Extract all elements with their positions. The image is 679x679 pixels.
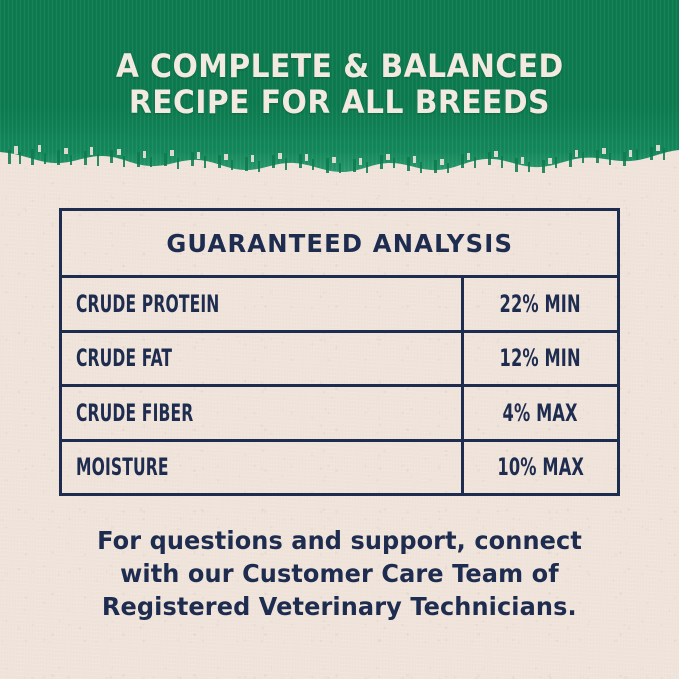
product-info-panel: A COMPLETE & BALANCED RECIPE FOR ALL BRE… [0,0,679,679]
nutrient-label: CRUDE FAT [76,344,172,372]
table-row: CRUDE PROTEIN 22% MIN [62,278,617,333]
table-row: CRUDE FIBER 4% MAX [62,387,617,442]
nutrient-label-cell: CRUDE FIBER [62,387,464,439]
nutrient-label: CRUDE FIBER [76,399,193,427]
nutrient-value: 22% MIN [500,290,581,318]
nutrient-label-cell: CRUDE PROTEIN [62,278,464,330]
nutrient-value-cell: 10% MAX [464,442,617,494]
nutrient-label: CRUDE PROTEIN [76,290,219,318]
support-note-line-3: Registered Veterinary Technicians. [102,590,577,623]
nutrient-value-cell: 12% MIN [464,333,617,385]
nutrient-value-cell: 4% MAX [464,387,617,439]
support-note-line-1: For questions and support, connect [97,524,582,557]
nutrient-label-cell: CRUDE FAT [62,333,464,385]
support-note-line-2: with our Customer Care Team of [120,557,559,590]
nutrient-value-cell: 22% MIN [464,278,617,330]
nutrient-value: 10% MAX [497,453,584,481]
nutrient-label-cell: MOISTURE [62,442,464,494]
customer-support-note: For questions and support, connect with … [0,524,679,623]
nutrient-label: MOISTURE [76,453,169,481]
nutrient-value: 4% MAX [503,399,578,427]
guaranteed-analysis-table: GUARANTEED ANALYSIS CRUDE PROTEIN 22% MI… [59,208,620,496]
nutrient-value: 12% MIN [500,344,581,372]
table-row: CRUDE FAT 12% MIN [62,333,617,388]
green-banner [0,0,679,190]
table-row: MOISTURE 10% MAX [62,442,617,494]
table-header-title: GUARANTEED ANALYSIS [166,229,513,258]
table-header: GUARANTEED ANALYSIS [62,211,617,278]
